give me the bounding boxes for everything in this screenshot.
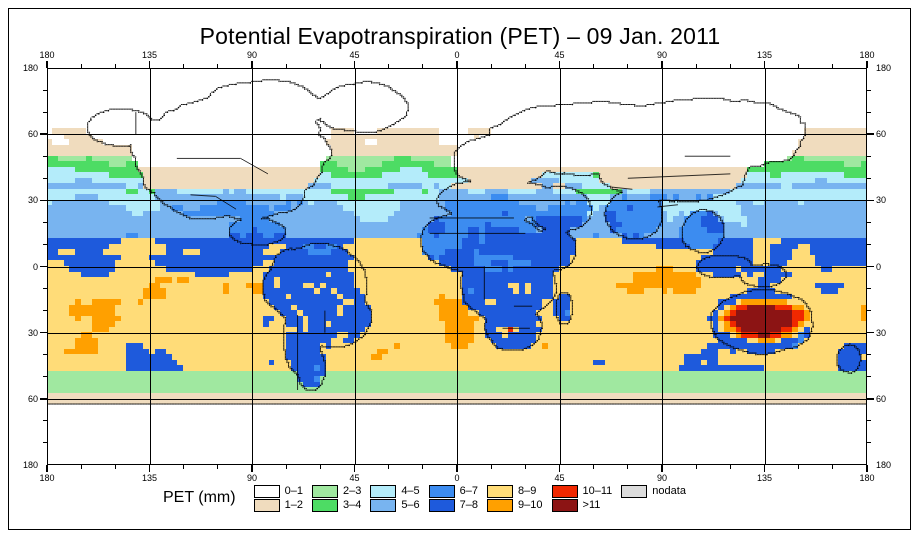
legend-entry: 10–11 [552,484,613,498]
legend-swatch [552,485,578,498]
lon-tick-label-bottom: 90 [657,473,667,483]
lon-tick-minor [183,64,184,68]
lat-tick-major [867,332,874,333]
lon-tick-minor [320,64,321,68]
lat-tick-minor [867,420,871,421]
lon-tick-minor [183,465,184,469]
legend-entry: 0–1 [254,484,303,498]
legend-swatch [552,499,578,512]
lat-tick-minor [43,156,47,157]
lon-tick-minor [696,465,697,469]
lon-tick-label-top: 0 [454,50,459,60]
lon-tick-minor [525,465,526,469]
lon-tick-minor [491,64,492,68]
lon-tick-label-top: 180 [859,50,874,60]
lon-tick-minor [798,64,799,68]
lat-tick-minor [43,90,47,91]
legend-entry: >11 [552,498,613,512]
lat-tick-label-left: 60 [28,129,38,139]
lon-tick-major [456,61,457,68]
lat-tick-minor [867,222,871,223]
legend-column: 2–33–4 [312,484,361,512]
legend-label: 7–8 [460,499,478,511]
legend-swatch [370,485,396,498]
lon-tick-label-bottom: 180 [39,473,54,483]
lon-tick-label-top: 135 [757,50,772,60]
legend-label: 1–2 [285,499,303,511]
lat-tick-minor [867,288,871,289]
legend-title: PET (mm) [163,489,236,507]
lat-tick-major [40,332,47,333]
legend-entry: 1–2 [254,498,303,512]
lon-tick-minor [832,64,833,68]
legend-swatch [254,485,280,498]
legend-column: 0–11–2 [254,484,303,512]
lon-tick-minor [696,64,697,68]
lon-tick-minor [320,465,321,469]
lon-tick-minor [593,64,594,68]
legend-entry-spacer [621,498,686,512]
lon-tick-minor [115,64,116,68]
lon-tick-major [661,61,662,68]
lat-tick-label-left: 60 [28,394,38,404]
lon-tick-label-top: 45 [349,50,359,60]
lat-tick-minor [867,90,871,91]
lat-tick-label-left: 0 [33,262,38,272]
lat-tick-minor [43,288,47,289]
lat-tick-label-left: 30 [28,328,38,338]
legend-entry: nodata [621,484,686,498]
lon-tick-label-top: 45 [554,50,564,60]
figure-root: Potential Evapotranspiration (PET) – 09 … [0,0,920,539]
lon-tick-label-bottom: 90 [247,473,257,483]
lon-tick-major [866,61,867,68]
lat-tick-minor [867,376,871,377]
lat-tick-label-right: 30 [876,328,886,338]
lon-tick-minor [491,465,492,469]
lon-tick-label-top: 90 [657,50,667,60]
page-title: Potential Evapotranspiration (PET) – 09 … [0,23,920,50]
legend-entry: 7–8 [429,498,478,512]
lon-tick-major [764,465,765,472]
lat-tick-minor [43,178,47,179]
legend-label: 10–11 [583,485,613,497]
lon-tick-minor [627,64,628,68]
lon-tick-minor [593,465,594,469]
legend-label: 4–5 [401,485,419,497]
lat-tick-label-right: 60 [876,129,886,139]
lat-tick-minor [867,310,871,311]
lat-tick-minor [867,442,871,443]
lon-tick-label-top: 90 [247,50,257,60]
lon-tick-label-top: 180 [39,50,54,60]
lon-tick-minor [730,465,731,469]
lon-tick-major [354,465,355,472]
lat-tick-minor [867,244,871,245]
legend-swatch [254,499,280,512]
lon-tick-minor [388,64,389,68]
legend-label: 0–1 [285,485,303,497]
lon-tick-major [559,465,560,472]
lat-tick-minor [43,420,47,421]
legend-swatch [312,485,338,498]
lon-tick-minor [115,465,116,469]
lat-tick-minor [867,178,871,179]
lat-tick-major [867,133,874,134]
lat-tick-minor [43,310,47,311]
legend-label: 2–3 [343,485,361,497]
lon-tick-major [559,61,560,68]
lat-tick-major [40,398,47,399]
lat-tick-major [40,200,47,201]
legend-label: 3–4 [343,499,361,511]
lat-tick-minor [43,376,47,377]
lat-tick-minor [867,156,871,157]
lon-tick-minor [81,64,82,68]
lat-tick-label-right: 30 [876,195,886,205]
legend-swatch [370,499,396,512]
lon-tick-major [661,465,662,472]
legend-entry: 5–6 [370,498,419,512]
legend-entry: 4–5 [370,484,419,498]
legend-label: 9–10 [518,499,542,511]
lon-tick-minor [217,64,218,68]
lon-tick-minor [286,465,287,469]
lat-tick-major [867,398,874,399]
lon-tick-major [149,61,150,68]
lat-corner-label: 180 [876,460,891,470]
pet-heatmap-canvas [47,68,867,465]
lon-tick-major [764,61,765,68]
lon-tick-major [46,465,47,472]
lon-tick-major [456,465,457,472]
lon-tick-label-bottom: 45 [554,473,564,483]
lon-tick-label-bottom: 45 [349,473,359,483]
lat-tick-major [40,266,47,267]
lat-tick-label-left: 30 [28,195,38,205]
legend-label: 5–6 [401,499,419,511]
lon-tick-minor [81,465,82,469]
lon-tick-major [866,465,867,472]
lon-tick-minor [798,465,799,469]
legend-label: >11 [583,499,601,511]
lon-tick-minor [832,465,833,469]
lon-tick-label-bottom: 180 [859,473,874,483]
legend-entry: 3–4 [312,498,361,512]
lat-tick-minor [867,354,871,355]
legend-swatch [429,499,455,512]
legend-label: nodata [652,485,686,497]
lat-tick-minor [43,222,47,223]
lat-tick-minor [43,442,47,443]
legend-swatch [312,499,338,512]
lon-tick-major [46,61,47,68]
legend-entry: 2–3 [312,484,361,498]
legend-swatch [487,499,513,512]
lon-tick-major [149,465,150,472]
legend: PET (mm) 0–11–22–33–44–55–66–77–88–99–10… [163,484,695,512]
legend-label: 6–7 [460,485,478,497]
legend-column: 8–99–10 [487,484,542,512]
lon-tick-label-bottom: 0 [454,473,459,483]
legend-swatch [487,485,513,498]
lon-tick-major [354,61,355,68]
map-plot-area [47,68,867,465]
lon-tick-major [251,61,252,68]
lat-tick-label-right: 0 [876,262,881,272]
lon-tick-minor [627,465,628,469]
lon-tick-label-top: 135 [142,50,157,60]
lat-tick-major [867,266,874,267]
lon-tick-minor [422,64,423,68]
legend-swatch [621,485,647,498]
legend-entry: 6–7 [429,484,478,498]
legend-entry: 8–9 [487,484,542,498]
lat-tick-minor [43,244,47,245]
legend-swatch [429,485,455,498]
lat-corner-label: 180 [23,63,38,73]
lat-corner-label: 180 [876,63,891,73]
lon-tick-label-bottom: 135 [142,473,157,483]
lat-tick-minor [867,112,871,113]
legend-swatch-columns: 0–11–22–33–44–55–66–77–88–99–1010–11>11n… [254,484,695,512]
lon-tick-minor [286,64,287,68]
legend-entry: 9–10 [487,498,542,512]
lat-tick-minor [43,354,47,355]
legend-column: nodata [621,484,686,512]
lon-tick-minor [730,64,731,68]
lat-corner-label: 180 [23,460,38,470]
lat-tick-major [40,133,47,134]
lat-tick-label-right: 60 [876,394,886,404]
legend-column: 10–11>11 [552,484,613,512]
lat-tick-minor [43,112,47,113]
legend-label: 8–9 [518,485,536,497]
lon-tick-minor [525,64,526,68]
legend-column: 4–55–6 [370,484,419,512]
lon-tick-minor [388,465,389,469]
legend-column: 6–77–8 [429,484,478,512]
lon-tick-minor [217,465,218,469]
lon-tick-label-bottom: 135 [757,473,772,483]
lon-tick-major [251,465,252,472]
lon-tick-minor [422,465,423,469]
lat-tick-major [867,200,874,201]
